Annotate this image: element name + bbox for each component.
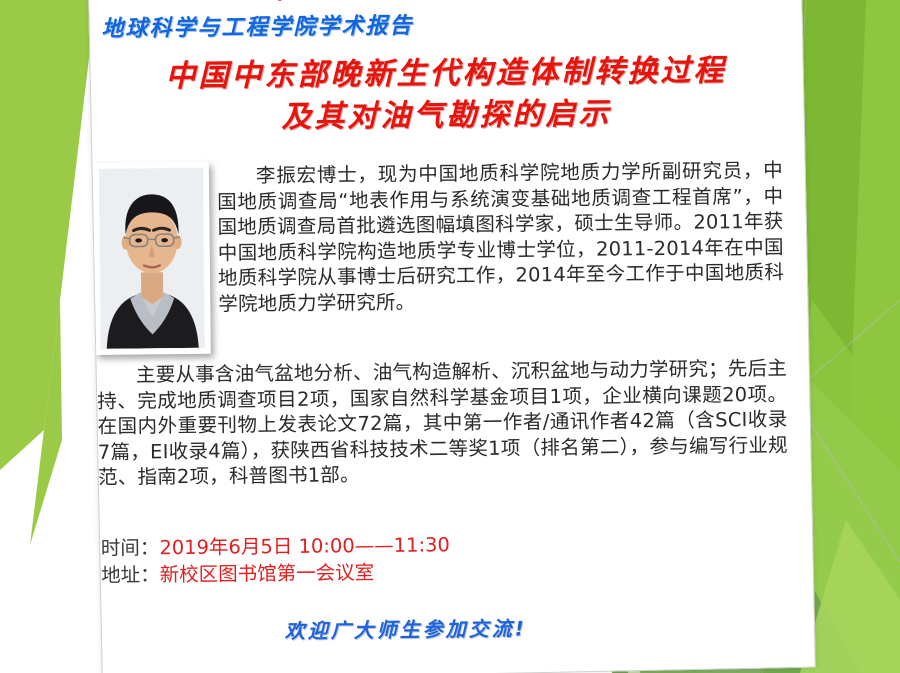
welcome-message: 欢迎广大师生参加交流!	[96, 610, 716, 645]
title-line-2: 及其对油气勘探的启示	[90, 92, 802, 141]
page-title: 中国中东部晚新生代构造体制转换过程 及其对油气勘探的启示	[90, 50, 803, 141]
speaker-photo	[99, 168, 205, 349]
clipped-red-stroke	[276, 0, 286, 1]
time-value: 2019年6月5日 10:00——11:30	[159, 533, 450, 559]
content-card: 地球科学与工程学院学术报告 中国中东部晚新生代构造体制转换过程 及其对油气勘探的…	[88, 0, 816, 673]
green-band-light	[840, 0, 900, 673]
research-summary-paragraph: 主要从事含油气盆地分析、油气构造解析、沉积盆地与动力学研究；先后主持、完成地质调…	[97, 356, 788, 491]
place-value: 新校区图书馆第一会议室	[160, 561, 375, 586]
title-line-1: 中国中东部晚新生代构造体制转换过程	[165, 53, 726, 94]
event-place-row: 地址：新校区图书馆第一会议室	[101, 555, 721, 588]
event-details: 时间：2019年6月5日 10:00——11:30 地址：新校区图书馆第一会议室	[101, 528, 722, 588]
slide-canvas: 地球科学与工程学院学术报告 中国中东部晚新生代构造体制转换过程 及其对油气勘探的…	[0, 0, 900, 673]
department-header: 地球科学与工程学院学术报告	[101, 4, 741, 43]
green-wedge-left	[0, 0, 96, 470]
green-wedge-left-tip	[30, 300, 62, 545]
speaker-photo-frame	[93, 162, 211, 355]
portrait-illustration	[99, 168, 205, 349]
time-label: 时间：	[101, 536, 160, 560]
place-label: 地址：	[101, 563, 160, 587]
speaker-bio-paragraph: 李振宏博士，现为中国地质科学院地质力学所副研究员，中国地质调查局“地表作用与系统…	[217, 158, 785, 317]
